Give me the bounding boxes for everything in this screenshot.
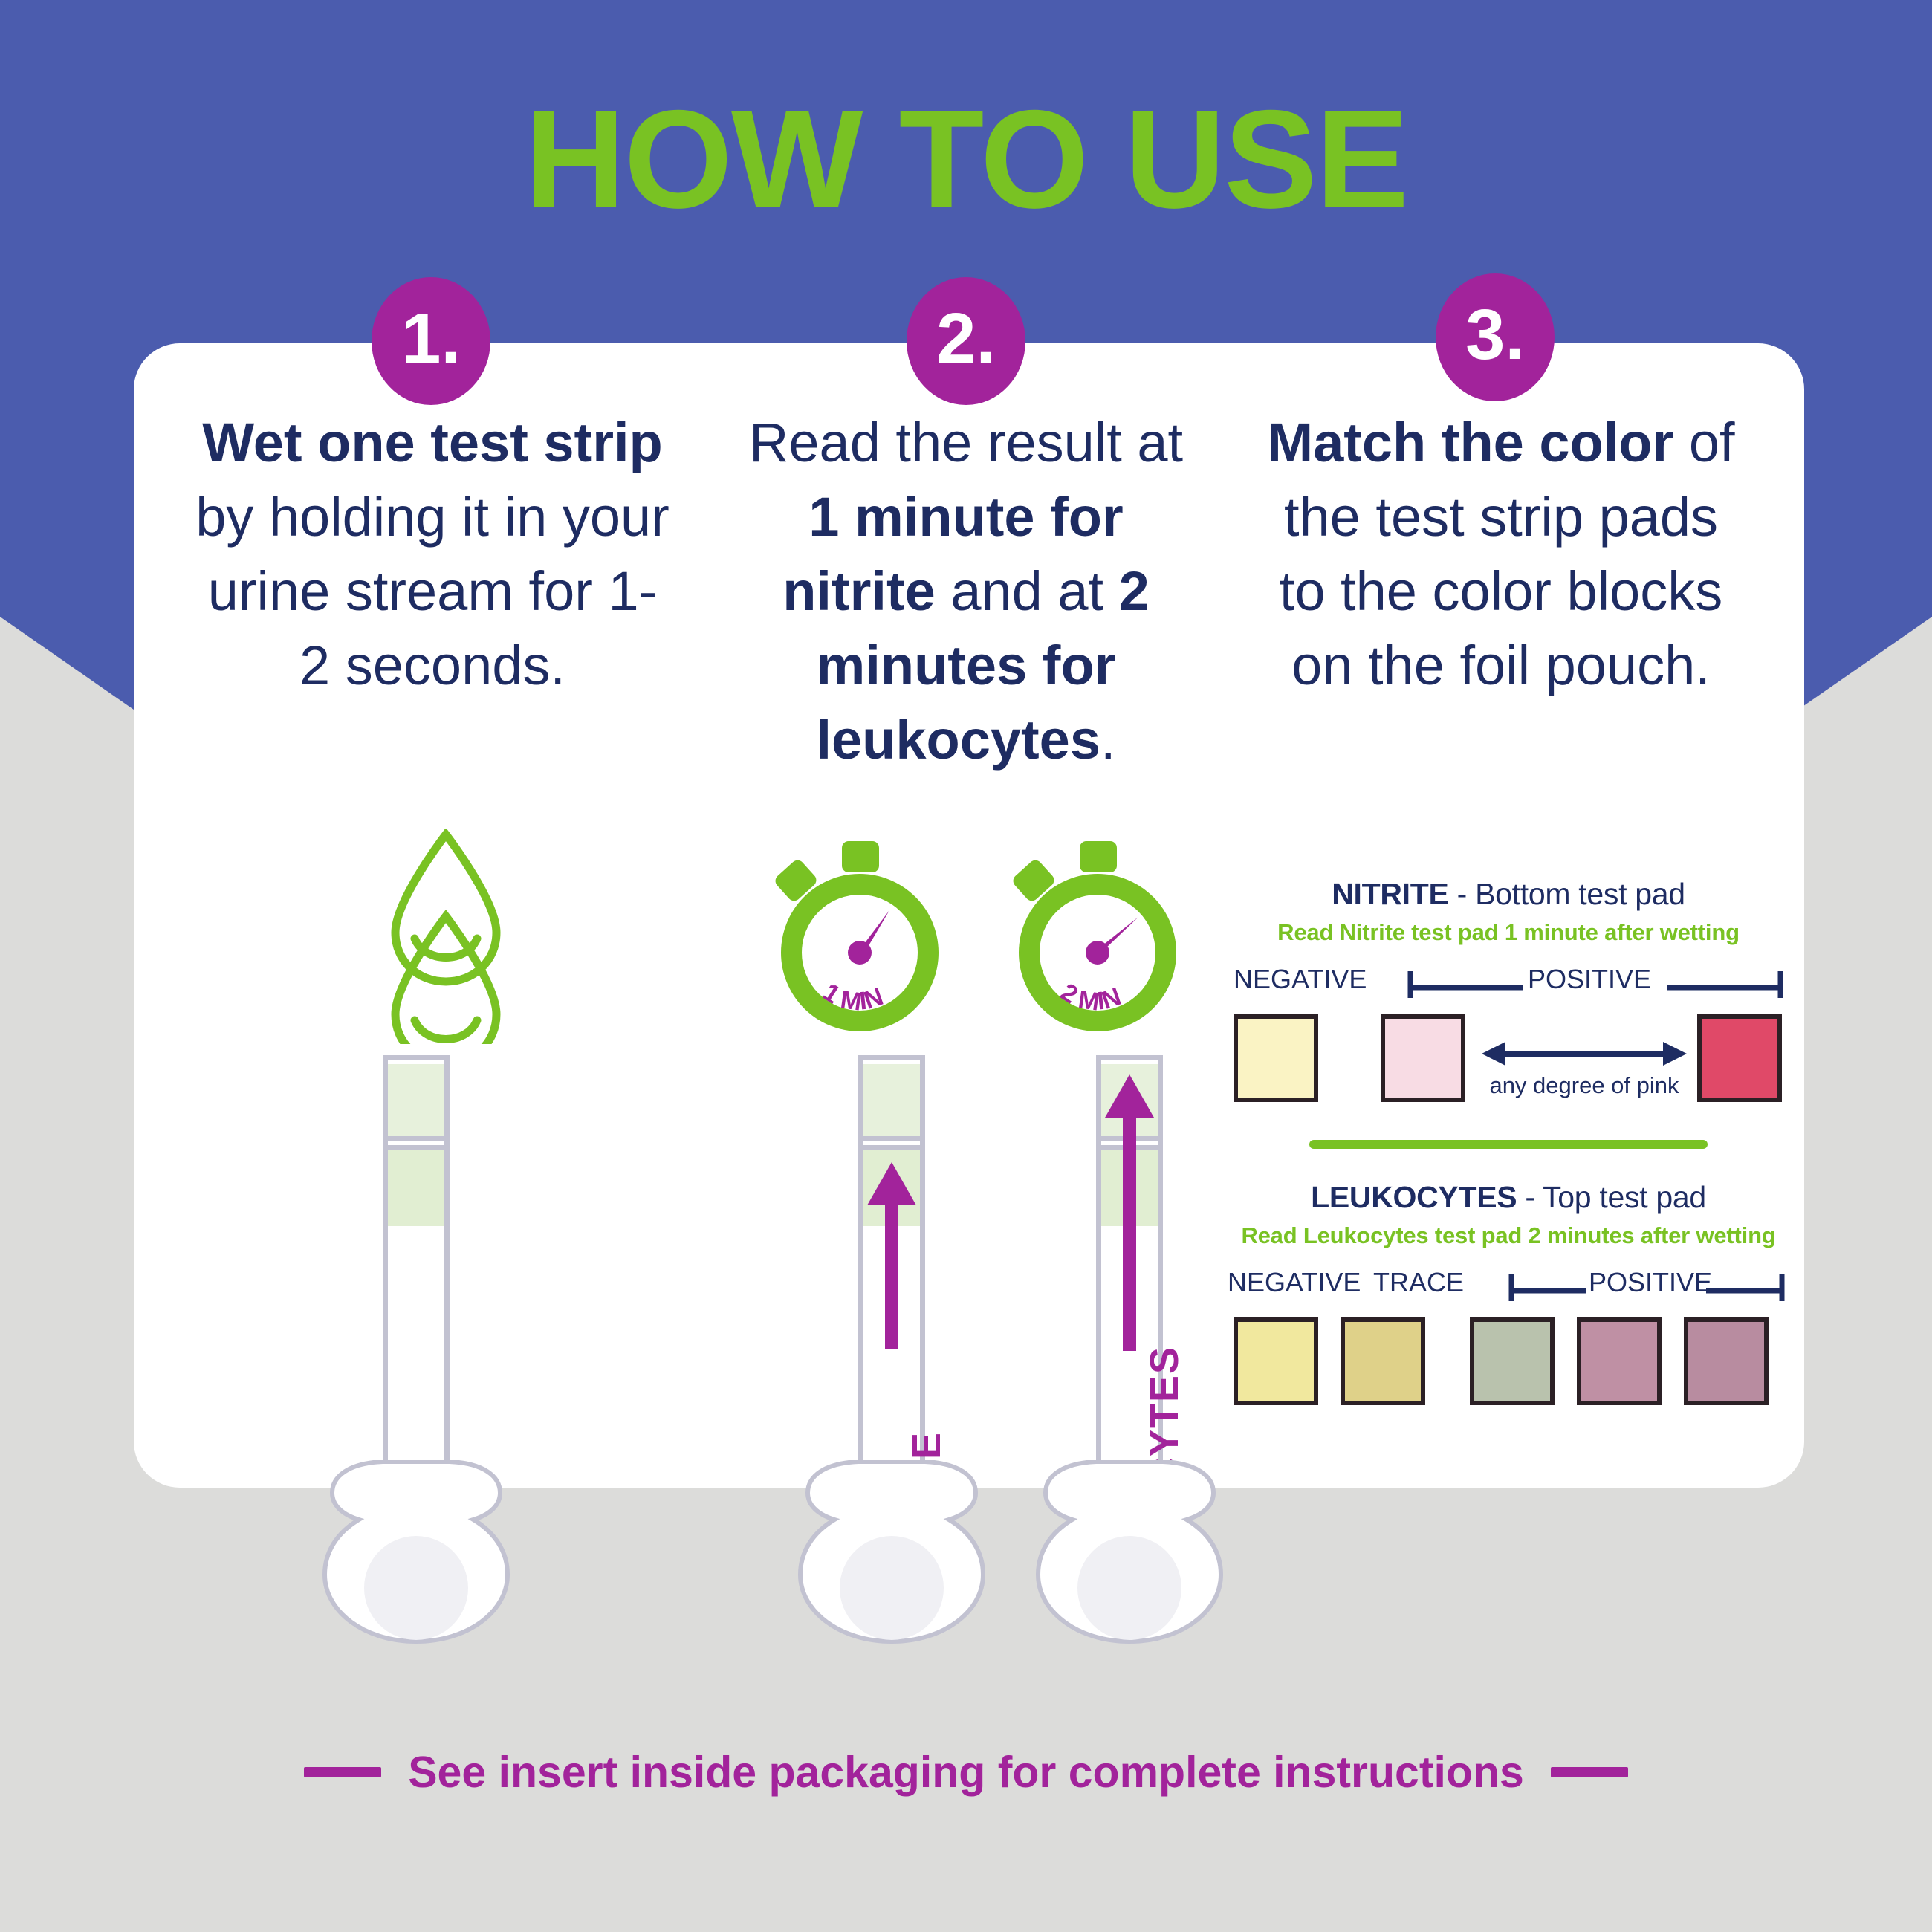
step-text-3: Match the color of the test strip pads t…	[1256, 406, 1746, 703]
page-title: HOW TO USE	[0, 89, 1932, 229]
strip-pad-bottom	[388, 1150, 444, 1226]
leukocytes-swatch-positive-1	[1470, 1317, 1555, 1405]
strip-handle-bulb	[1014, 1460, 1245, 1646]
step-text-2: Read the result at 1 minute for nitrite …	[728, 406, 1204, 777]
strip-top-edge	[383, 1055, 450, 1060]
color-chart-panel: NITRITE - Bottom test pad Read Nitrite t…	[1234, 877, 1783, 1410]
strip-pad-top	[863, 1064, 920, 1141]
leukocytes-label-trace: TRACE	[1373, 1267, 1464, 1298]
strip-top-edge	[858, 1055, 925, 1060]
leukocytes-title-bold: LEUKOCYTES	[1311, 1180, 1517, 1214]
step-badge-1: 1.	[372, 277, 490, 405]
footer-dash-right	[1551, 1767, 1628, 1777]
strip-top-edge	[1096, 1055, 1163, 1060]
strip-handle-bulb	[301, 1460, 531, 1646]
footer: See insert inside packaging for complete…	[0, 1724, 1932, 1821]
leukocytes-swatch-row	[1234, 1317, 1783, 1410]
strip-handle-bulb	[777, 1460, 1007, 1646]
leukocytes-swatch-positive-2	[1577, 1317, 1662, 1405]
nitrite-swatch-positive-light	[1381, 1014, 1465, 1102]
leukocytes-scale-labels: NEGATIVE TRACE POSITIVE	[1234, 1267, 1783, 1316]
stopwatch-icon-1-min: 1 MIN	[765, 840, 951, 1037]
leukocytes-swatch-trace	[1341, 1317, 1425, 1405]
nitrite-label-negative: NEGATIVE	[1234, 964, 1367, 995]
footer-text: See insert inside packaging for complete…	[408, 1747, 1524, 1798]
leukocytes-section-title: LEUKOCYTES - Top test pad	[1234, 1180, 1783, 1215]
section-divider	[1309, 1140, 1708, 1149]
leukocytes-subtitle: Read Leukocytes test pad 2 minutes after…	[1234, 1222, 1783, 1249]
step-badge-3: 3.	[1436, 273, 1555, 401]
nitrite-scale-labels: NEGATIVE POSITIVE	[1234, 964, 1783, 1013]
leukocytes-arrow-icon	[1096, 1072, 1163, 1358]
step-text-1: Wet one test strip by holding it in your…	[195, 406, 670, 703]
nitrite-swatch-row: any degree of pink	[1234, 1014, 1783, 1107]
nitrite-subtitle: Read Nitrite test pad 1 minute after wet…	[1234, 919, 1783, 946]
nitrite-arrow-icon	[858, 1159, 925, 1356]
droplet-icon	[372, 829, 520, 1048]
any-degree-arrow-icon	[1480, 1037, 1688, 1074]
nitrite-positive-ruler	[1407, 968, 1783, 1003]
any-degree-of-pink-caption: any degree of pink	[1458, 1072, 1711, 1099]
strip-pad-top	[388, 1064, 444, 1141]
leukocytes-positive-ruler	[1508, 1271, 1785, 1306]
leukocytes-label-negative: NEGATIVE	[1228, 1267, 1361, 1298]
nitrite-section-title: NITRITE - Bottom test pad	[1234, 877, 1783, 912]
leukocytes-swatch-positive-3	[1684, 1317, 1769, 1405]
nitrite-title-bold: NITRITE	[1332, 877, 1448, 911]
leukocytes-swatch-negative	[1234, 1317, 1318, 1405]
stopwatch-icon-2-min: 2 MIN	[1003, 840, 1189, 1037]
footer-dash-left	[304, 1767, 381, 1777]
step-badge-2: 2.	[907, 277, 1025, 405]
nitrite-title-rest: - Bottom test pad	[1449, 877, 1685, 911]
nitrite-swatch-negative	[1234, 1014, 1318, 1102]
leukocytes-title-rest: - Top test pad	[1517, 1180, 1706, 1214]
